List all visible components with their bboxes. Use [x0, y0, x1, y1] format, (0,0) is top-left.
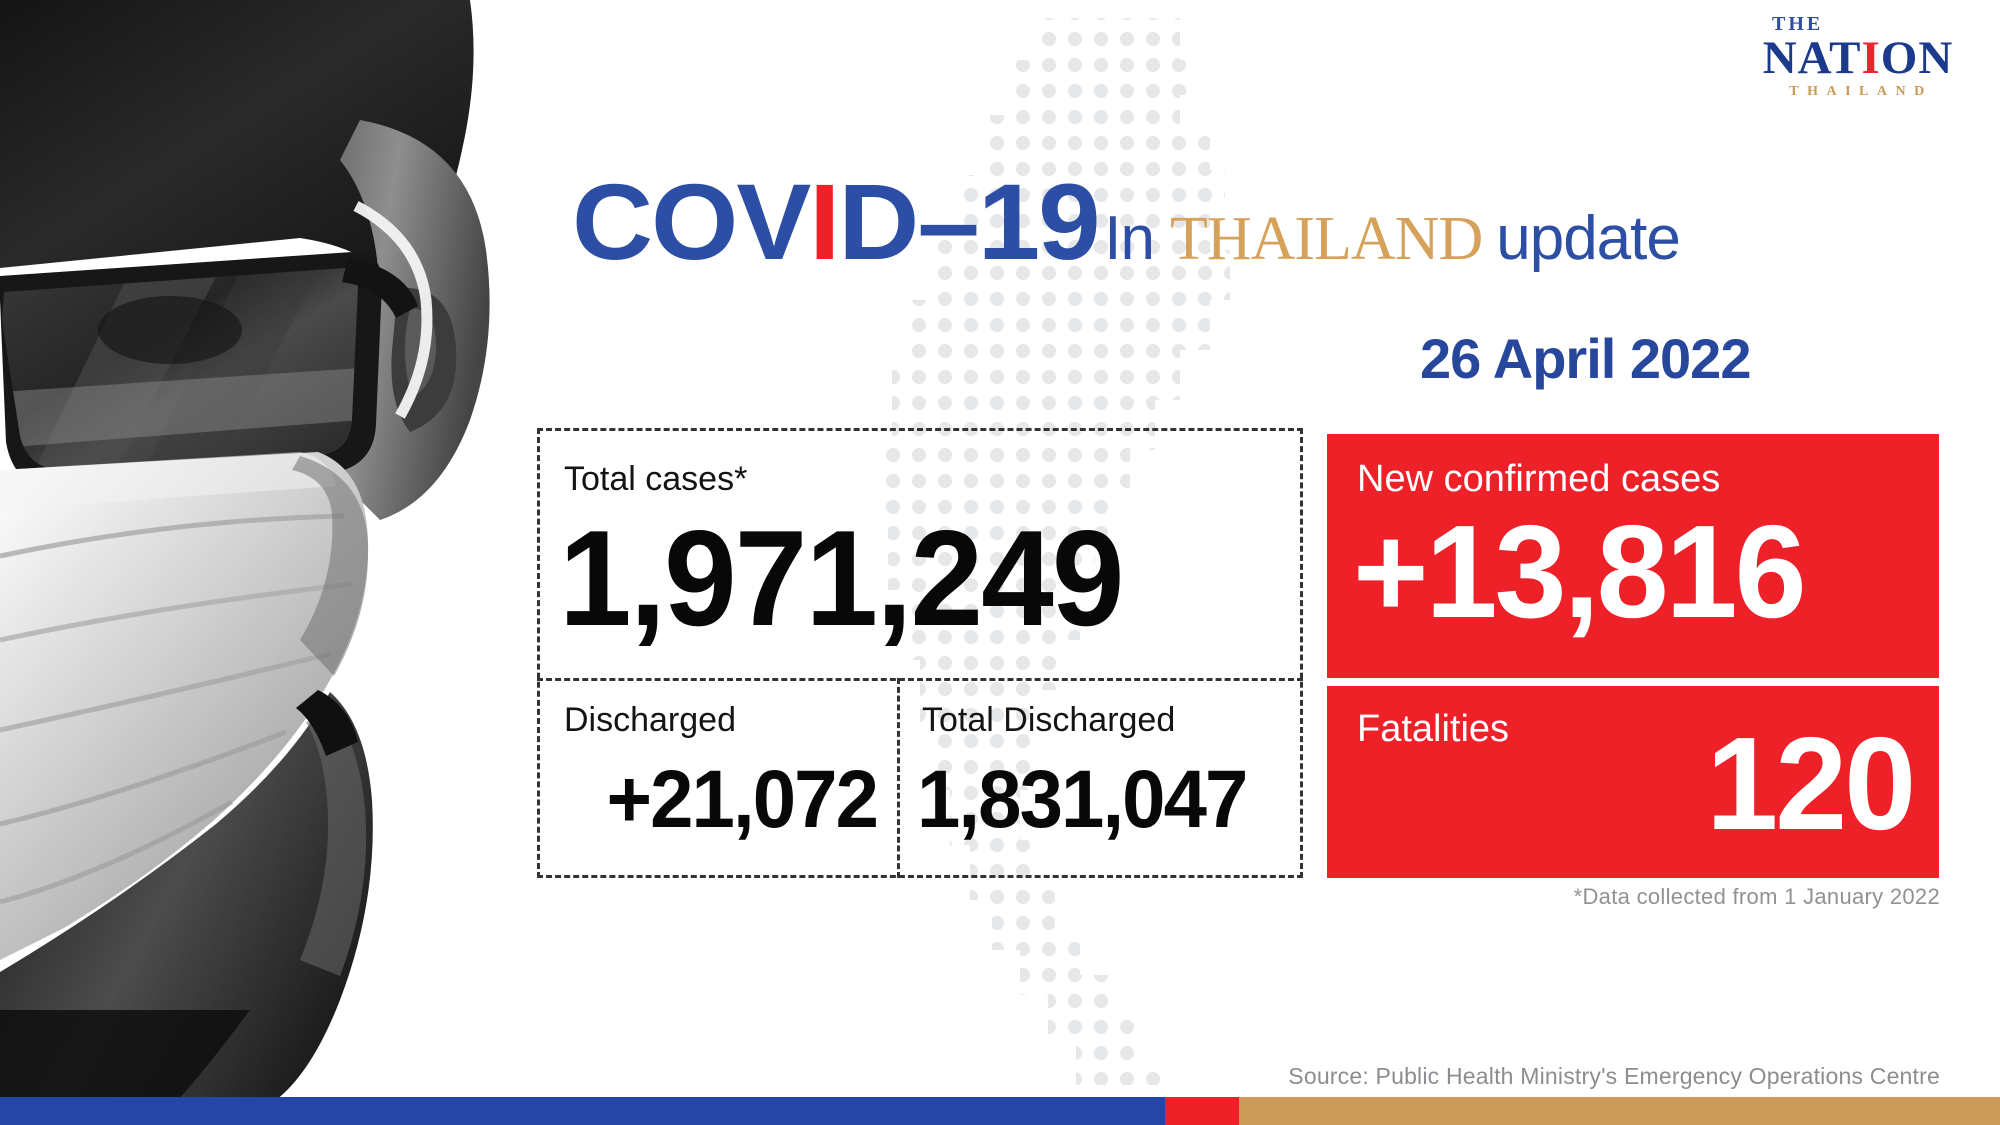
source-credit: Source: Public Health Ministry's Emergen…: [1288, 1063, 1940, 1090]
total-cases-label: Total cases*: [564, 460, 747, 499]
report-date: 26 April 2022: [1420, 326, 1750, 391]
discharged-value: +21,072: [583, 753, 878, 847]
fatalities-label: Fatalities: [1357, 708, 1509, 751]
masked-person-photo: [0, 0, 560, 1100]
dashed-divider-vertical: [897, 678, 900, 878]
bottom-accent-bar: [0, 1097, 2000, 1125]
nation-thailand-logo[interactable]: THE NATION THAILAND: [1738, 14, 1978, 99]
infographic-canvas: THE NATION THAILAND COVID–19InTHAILANDup…: [0, 0, 2000, 1125]
covid-highlight-letter: I: [809, 161, 838, 282]
total-discharged-label: Total Discharged: [922, 701, 1175, 740]
headline-suffix: update: [1496, 203, 1680, 274]
data-collection-footnote: *Data collected from 1 January 2022: [1574, 884, 1940, 910]
logo-nation-suffix: ON: [1881, 32, 1954, 84]
total-cases-panel: Total cases* 1,971,249 Discharged +21,07…: [537, 428, 1303, 878]
logo-the-text: THE: [1738, 14, 1978, 34]
covid-suffix: D–19: [838, 161, 1098, 282]
new-confirmed-cases-label: New confirmed cases: [1357, 458, 1720, 501]
fatalities-value: 120: [1706, 708, 1913, 859]
logo-nation-highlight-letter: I: [1861, 32, 1880, 84]
logo-nation-prefix: NAT: [1763, 32, 1862, 84]
covid-wordmark: COVID–19: [572, 168, 1099, 276]
bottom-bar-red-segment: [1165, 1097, 1239, 1125]
headline-country: THAILAND: [1170, 204, 1482, 275]
headline-connector: In: [1104, 203, 1154, 274]
new-confirmed-cases-value: +13,816: [1353, 496, 1804, 647]
dashed-divider-horizontal: [537, 678, 1303, 681]
bottom-bar-blue-segment: [0, 1097, 1165, 1125]
total-cases-value: 1,971,249: [559, 500, 1123, 656]
page-title: COVID–19InTHAILANDupdate: [572, 168, 1680, 276]
total-discharged-value: 1,831,047: [917, 753, 1246, 847]
covid-prefix: COV: [572, 161, 809, 282]
new-confirmed-cases-panel: New confirmed cases +13,816: [1327, 434, 1939, 678]
bottom-bar-gold-segment: [1239, 1097, 2000, 1125]
logo-nation-text: NATION: [1738, 34, 1978, 83]
fatalities-panel: Fatalities 120: [1327, 686, 1939, 878]
logo-country-text: THAILAND: [1738, 85, 1978, 99]
discharged-label: Discharged: [564, 701, 736, 740]
